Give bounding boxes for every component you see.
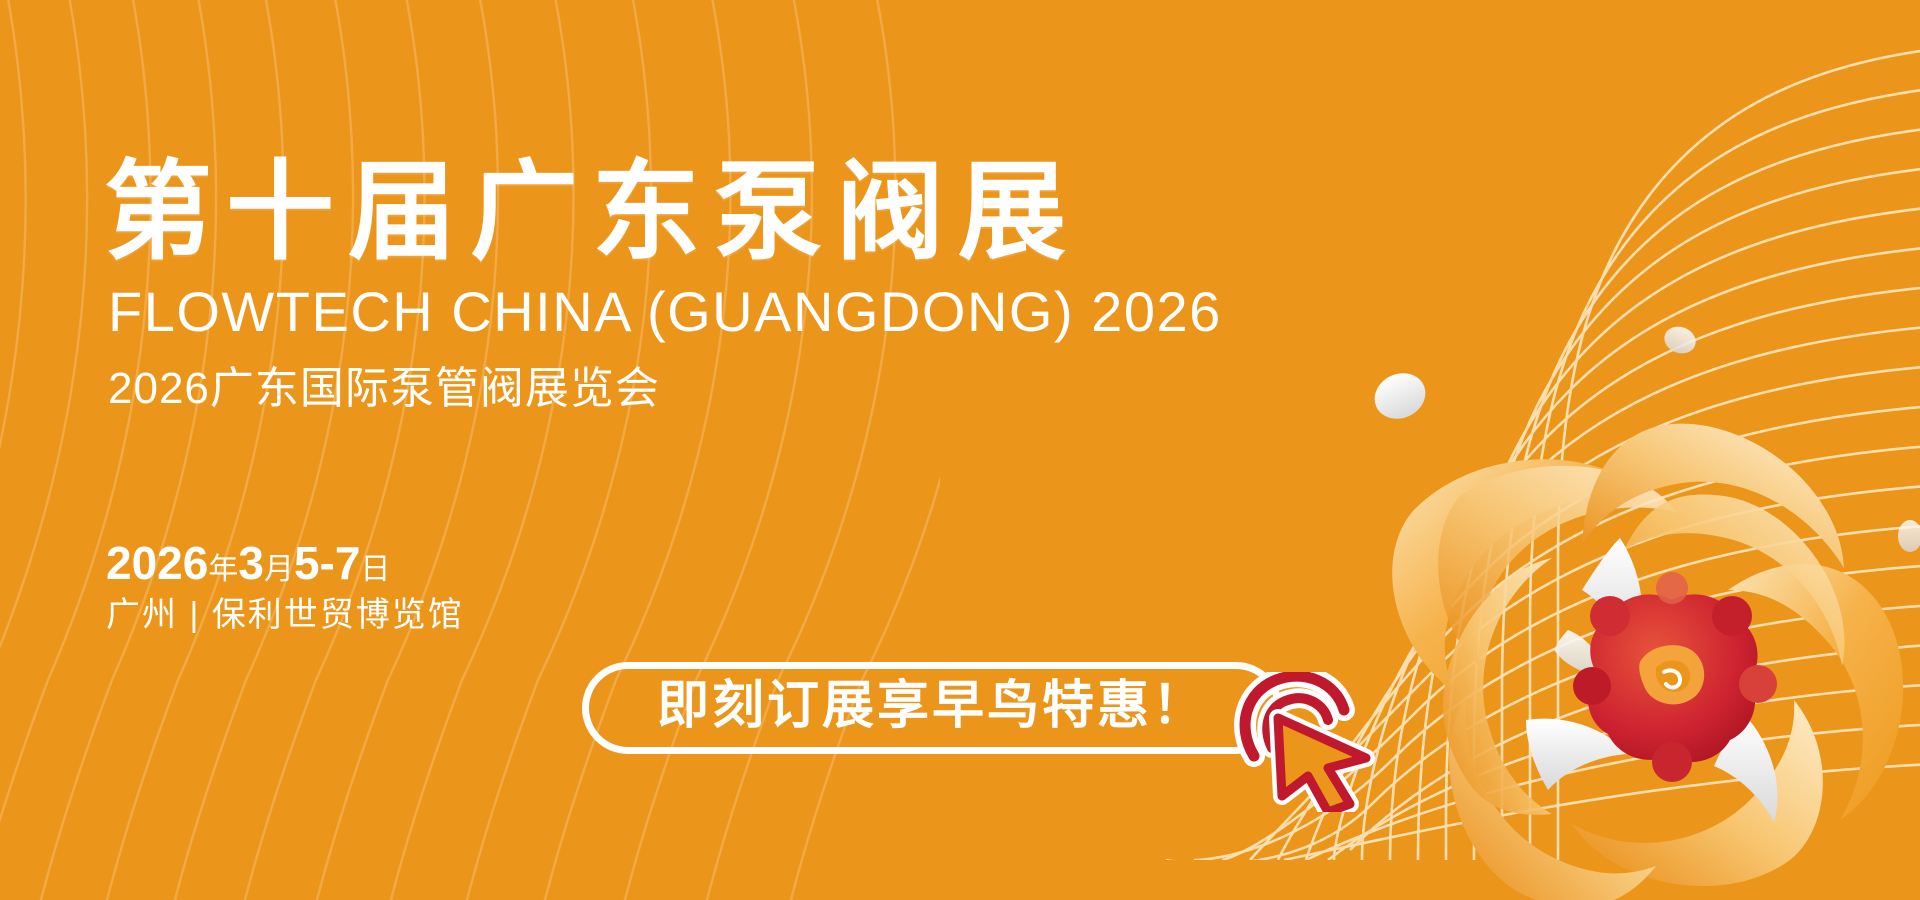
date-year: 2026 [106,537,208,589]
cta-label: 即刻订展享早鸟特惠！ [657,680,1207,732]
event-venue: 广州 | 保利世贸博览馆 [106,595,464,635]
date-month-unit: 月 [264,553,294,586]
date-days: 5-7 [294,537,360,589]
page-title: 第十届广东泵阀展 [104,158,1080,266]
event-promo-banner: 第十届广东泵阀展 FLOWTECH CHINA (GUANGDONG) 2026… [0,0,1920,900]
title-subtitle-chinese: 2026广东国际泵管阀展览会 [108,366,660,412]
event-date: 2026年3月5-7日 [106,537,390,601]
date-month: 3 [238,537,264,589]
title-english: FLOWTECH CHINA (GUANGDONG) 2026 [108,284,1222,340]
date-year-unit: 年 [208,553,238,586]
venue-hall: 保利世贸博览馆 [212,596,464,634]
venue-separator: | [189,596,200,634]
date-day-unit: 日 [360,553,390,586]
early-bird-cta-button[interactable]: 即刻订展享早鸟特惠！ [582,662,1282,754]
venue-city: 广州 [106,596,178,634]
banner-content: 第十届广东泵阀展 FLOWTECH CHINA (GUANGDONG) 2026… [0,0,1920,900]
